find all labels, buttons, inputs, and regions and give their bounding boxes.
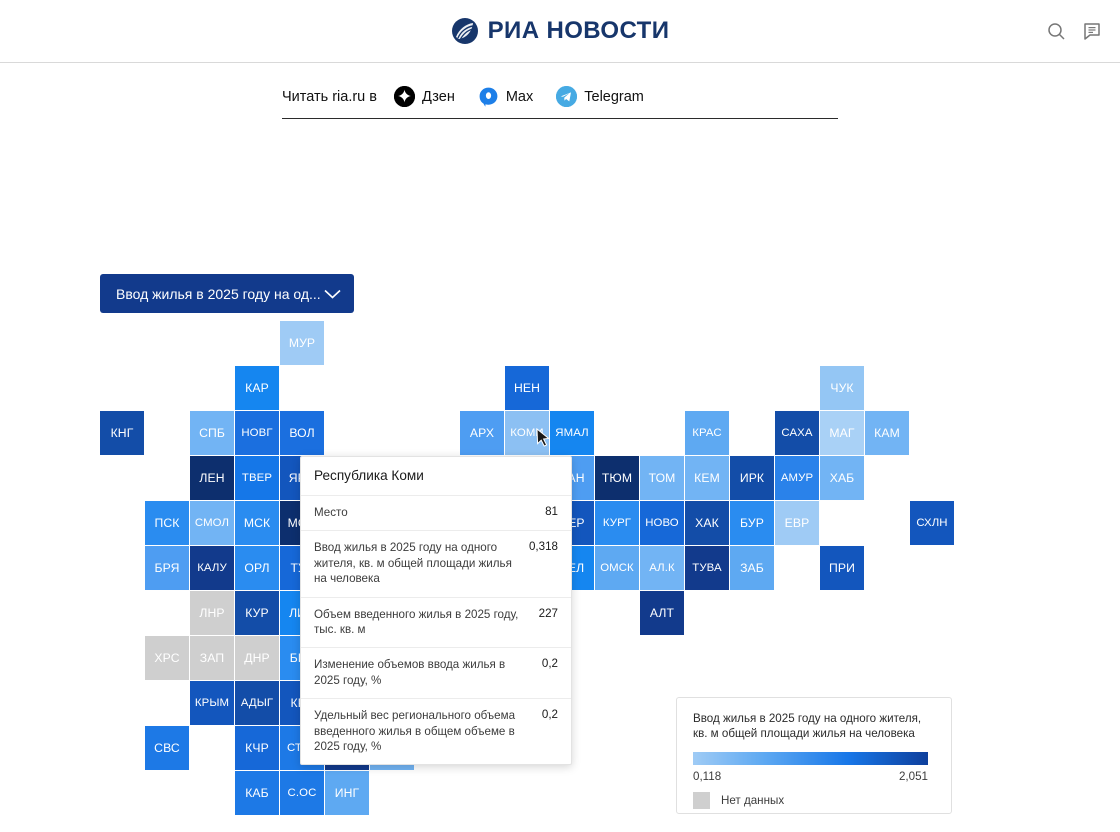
map-tile-label: КРЫМ	[195, 697, 229, 709]
nodata-label: Нет данных	[721, 794, 784, 807]
social-link-max[interactable]: Max	[478, 86, 533, 107]
map-tile-label: КОМИ	[510, 427, 543, 439]
map-tile-зап[interactable]: ЗАП	[190, 636, 234, 680]
map-tile-алк[interactable]: АЛ.К	[640, 546, 684, 590]
map-tile-ново[interactable]: НОВО	[640, 501, 684, 545]
tooltip-row: Удельный вес регионального объема введен…	[301, 699, 571, 764]
map-tile-label: СМОЛ	[195, 517, 229, 529]
map-tile-label: ХРС	[154, 651, 179, 665]
map-tile-label: БУР	[740, 516, 764, 530]
map-tile-коми[interactable]: КОМИ	[505, 411, 549, 455]
social-label-max: Max	[506, 89, 533, 105]
tooltip-value: 0,2	[542, 708, 558, 754]
map-tile-label: АДЫГ	[241, 697, 273, 709]
nodata-swatch	[693, 792, 710, 809]
map-tile-каб[interactable]: КАБ	[235, 771, 279, 815]
map-tile-label: СХЛН	[916, 517, 947, 529]
tooltip-key: Ввод жилья в 2025 году на одного жителя,…	[314, 540, 517, 586]
site-logo[interactable]: РИА НОВОСТИ	[451, 17, 670, 45]
readin-wrap: Читать ria.ru в Дзен Max	[0, 63, 1120, 119]
map-tile-тува[interactable]: ТУВА	[685, 546, 729, 590]
map-tile-label: ИРК	[740, 471, 764, 485]
map-tile-label: ДНР	[244, 651, 269, 665]
map-tile-label: ЗАБ	[740, 561, 764, 575]
tooltip-key: Место	[314, 505, 348, 520]
map-tile-мур[interactable]: МУР	[280, 321, 324, 365]
map-tile-label: КУР	[245, 606, 268, 620]
map-tile-label: КАЛУ	[197, 562, 227, 574]
map-tile-омск[interactable]: ОМСК	[595, 546, 639, 590]
map-tile-label: ЛНР	[199, 606, 224, 620]
map-tile-том[interactable]: ТОМ	[640, 456, 684, 500]
legend-title: Ввод жилья в 2025 году на одного жителя,…	[693, 711, 935, 742]
map-tile-бря[interactable]: БРЯ	[145, 546, 189, 590]
map-tile-лнр[interactable]: ЛНР	[190, 591, 234, 635]
map-tile-label: ЕВР	[785, 516, 810, 530]
max-icon	[478, 86, 499, 107]
map-tile-label: МСК	[244, 516, 270, 530]
map-tile-пск[interactable]: ПСК	[145, 501, 189, 545]
map-tile-label: АЛТ	[650, 606, 674, 620]
map-tile-label: ЧУК	[830, 381, 853, 395]
map-tile-label: НОВГ	[241, 427, 272, 439]
map-tile-адыг[interactable]: АДЫГ	[235, 681, 279, 725]
map-tile-label: КАМ	[874, 426, 900, 440]
map-tile-label: СПБ	[199, 426, 225, 440]
comment-bubble-icon[interactable]	[1082, 21, 1102, 41]
site-header: РИА НОВОСТИ	[0, 0, 1120, 63]
map-tile-чук[interactable]: ЧУК	[820, 366, 864, 410]
page-root: РИА НОВОСТИ Читать ria.ru в	[0, 0, 1120, 832]
map-tile-label: КУРГ	[603, 517, 631, 529]
map-tile-новг[interactable]: НОВГ	[235, 411, 279, 455]
map-tile-label: ТОМ	[649, 471, 676, 485]
brand-title: РИА НОВОСТИ	[488, 17, 670, 45]
readin-label: Читать ria.ru в	[282, 89, 377, 105]
map-tile-label: АМУР	[781, 472, 813, 484]
map-tile-твер[interactable]: ТВЕР	[235, 456, 279, 500]
map-tile-кар[interactable]: КАР	[235, 366, 279, 410]
map-tile-евр[interactable]: ЕВР	[775, 501, 819, 545]
map-tile-label: ЯМАЛ	[555, 427, 588, 439]
map-tile-орл[interactable]: ОРЛ	[235, 546, 279, 590]
map-tile-label: С.ОС	[288, 787, 317, 799]
ria-globe-icon	[451, 17, 479, 45]
map-tile-label: НЕН	[514, 381, 540, 395]
map-tile-кчр[interactable]: КЧР	[235, 726, 279, 770]
region-tooltip: Республика Коми Место 81 Ввод жилья в 20…	[300, 456, 572, 765]
map-tile-нен[interactable]: НЕН	[505, 366, 549, 410]
map-tile-заб[interactable]: ЗАБ	[730, 546, 774, 590]
legend-gradient-bar	[693, 752, 928, 765]
tooltip-key: Изменение объемов ввода жилья в 2025 год…	[314, 657, 530, 688]
map-tile-label: НОВО	[645, 517, 679, 529]
map-tile-вол[interactable]: ВОЛ	[280, 411, 324, 455]
map-tile-лен[interactable]: ЛЕН	[190, 456, 234, 500]
map-tile-label: ВОЛ	[289, 426, 314, 440]
map-tile-label: ПСК	[155, 516, 180, 530]
legend-max: 2,051	[899, 770, 928, 783]
map-tile-свс[interactable]: СВС	[145, 726, 189, 770]
map-tile-label: АЛ.К	[649, 562, 675, 574]
tooltip-key: Удельный вес регионального объема введен…	[314, 708, 530, 754]
map-tile-кург[interactable]: КУРГ	[595, 501, 639, 545]
map-tile-инг[interactable]: ИНГ	[325, 771, 369, 815]
map-tile-label: СВС	[154, 741, 180, 755]
tooltip-key: Объем введенного жилья в 2025 году, тыс.…	[314, 607, 527, 638]
map-tile-бур[interactable]: БУР	[730, 501, 774, 545]
map-tile-тюм[interactable]: ТЮМ	[595, 456, 639, 500]
map-tile-label: ОМСК	[600, 562, 634, 574]
map-tile-label: КЧР	[245, 741, 269, 755]
map-tile-хрс[interactable]: ХРС	[145, 636, 189, 680]
map-tile-хаб[interactable]: ХАБ	[820, 456, 864, 500]
map-tile-крас[interactable]: КРАС	[685, 411, 729, 455]
map-tile-амур[interactable]: АМУР	[775, 456, 819, 500]
map-tile-при[interactable]: ПРИ	[820, 546, 864, 590]
map-tile-кам[interactable]: КАМ	[865, 411, 909, 455]
map-tile-смол[interactable]: СМОЛ	[190, 501, 234, 545]
map-tile-спб[interactable]: СПБ	[190, 411, 234, 455]
map-tile-алт[interactable]: АЛТ	[640, 591, 684, 635]
map-tile-маг[interactable]: МАГ	[820, 411, 864, 455]
map-tile-label: ТЮМ	[602, 471, 632, 485]
map-tile-label: КНГ	[111, 426, 134, 440]
map-tile-label: ЗАП	[200, 651, 224, 665]
map-tile-label: КАБ	[245, 786, 269, 800]
tooltip-value: 0,318	[529, 540, 558, 586]
read-in-bar: Читать ria.ru в Дзен Max	[282, 86, 838, 119]
map-tile-ирк[interactable]: ИРК	[730, 456, 774, 500]
map-tile-label: ОРЛ	[244, 561, 269, 575]
social-label-dzen: Дзен	[422, 89, 455, 105]
tooltip-row: Ввод жилья в 2025 году на одного жителя,…	[301, 531, 571, 597]
map-tile-label: КРАС	[692, 427, 721, 439]
header-icons	[1046, 21, 1102, 41]
map-tile-крым[interactable]: КРЫМ	[190, 681, 234, 725]
map-tile-калу[interactable]: КАЛУ	[190, 546, 234, 590]
map-tile-кем[interactable]: КЕМ	[685, 456, 729, 500]
map-tile-сос[interactable]: С.ОС	[280, 771, 324, 815]
map-legend: Ввод жилья в 2025 году на одного жителя,…	[676, 697, 952, 814]
map-tile-label: ЛЕН	[199, 471, 224, 485]
map-tile-саха[interactable]: САХА	[775, 411, 819, 455]
map-tile-хак[interactable]: ХАК	[685, 501, 729, 545]
tooltip-value: 0,2	[542, 657, 558, 688]
map-tile-label: БРЯ	[155, 561, 180, 575]
legend-nodata: Нет данных	[693, 792, 935, 809]
telegram-icon	[556, 86, 577, 107]
legend-scale: 0,118 2,051	[693, 770, 928, 783]
map-tile-label: ПРИ	[829, 561, 855, 575]
social-link-telegram[interactable]: Telegram	[556, 86, 644, 107]
dzen-icon	[394, 86, 415, 107]
map-tile-днр[interactable]: ДНР	[235, 636, 279, 680]
tooltip-title: Республика Коми	[301, 457, 571, 496]
map-tile-label: САХА	[781, 427, 812, 439]
map-tile-label: МУР	[289, 336, 315, 350]
map-tile-label: КЕМ	[694, 471, 720, 485]
map-tile-label: ИНГ	[335, 786, 359, 800]
social-link-dzen[interactable]: Дзен	[394, 86, 455, 107]
map-tile-label: ХАБ	[830, 471, 855, 485]
map-tile-label: ТУВА	[692, 562, 721, 574]
tooltip-value: 81	[545, 505, 558, 520]
map-tile-кур[interactable]: КУР	[235, 591, 279, 635]
legend-min: 0,118	[693, 770, 721, 783]
map-tile-ямал[interactable]: ЯМАЛ	[550, 411, 594, 455]
map-tile-label: ТВЕР	[242, 472, 272, 484]
tooltip-value: 227	[539, 607, 558, 638]
tooltip-row: Место 81	[301, 496, 571, 531]
map-tile-label: МАГ	[829, 426, 854, 440]
map-tile-схлн[interactable]: СХЛН	[910, 501, 954, 545]
search-icon[interactable]	[1046, 21, 1066, 41]
social-label-telegram: Telegram	[584, 89, 644, 105]
map-tile-label: АРХ	[470, 426, 494, 440]
map-tile-label: КАР	[245, 381, 269, 395]
tooltip-row: Объем введенного жилья в 2025 году, тыс.…	[301, 598, 571, 649]
map-tile-label: ХАК	[695, 516, 719, 530]
map-tile-арх[interactable]: АРХ	[460, 411, 504, 455]
tooltip-row: Изменение объемов ввода жилья в 2025 год…	[301, 648, 571, 699]
map-tile-мск[interactable]: МСК	[235, 501, 279, 545]
map-tile-кнг[interactable]: КНГ	[100, 411, 144, 455]
